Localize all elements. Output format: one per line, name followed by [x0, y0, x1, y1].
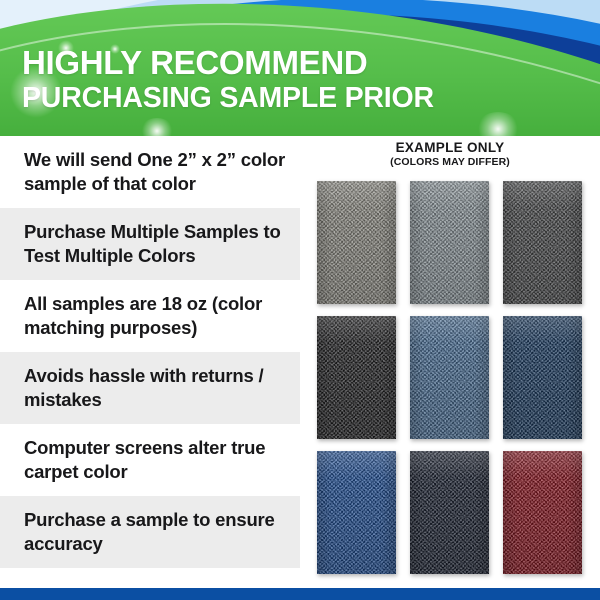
carpet-swatch-navy-blue — [503, 316, 582, 439]
benefit-text: Purchase a sample to ensure accuracy — [24, 508, 316, 556]
carpet-swatch-burgundy-red — [503, 451, 582, 574]
benefit-text: We will send One 2” x 2” color sample of… — [24, 148, 316, 196]
swatch-shading — [503, 181, 582, 304]
carpet-swatch-light-blue-gray — [410, 181, 489, 304]
carpet-swatch-grid — [317, 181, 600, 586]
swatch-shading — [410, 181, 489, 304]
banner-title-line-1: HIGHLY RECOMMEND — [22, 46, 434, 79]
carpet-swatch-royal-blue — [317, 451, 396, 574]
carpet-swatch-black — [317, 316, 396, 439]
swatch-shading — [410, 451, 489, 574]
swatch-shading — [317, 316, 396, 439]
header-banner: HIGHLY RECOMMEND PURCHASING SAMPLE PRIOR — [0, 0, 600, 136]
carpet-swatch-medium-blue — [410, 316, 489, 439]
swatch-shading — [503, 451, 582, 574]
benefit-text: All samples are 18 oz (color matching pu… — [24, 292, 316, 340]
bottom-accent-bar — [0, 588, 600, 600]
swatch-row — [317, 316, 600, 439]
benefit-text: Purchase Multiple Samples to Test Multip… — [24, 220, 316, 268]
example-only-caption: EXAMPLE ONLY (COLORS MAY DIFFER) — [300, 140, 600, 168]
banner-title-line-2: PURCHASING SAMPLE PRIOR — [22, 84, 434, 113]
swatch-shading — [317, 181, 396, 304]
body-area: We will send One 2” x 2” color sample of… — [0, 136, 600, 588]
promo-poster: HIGHLY RECOMMEND PURCHASING SAMPLE PRIOR… — [0, 0, 600, 600]
swatch-row — [317, 451, 600, 574]
benefit-text: Avoids hassle with returns / mistakes — [24, 364, 316, 412]
swatch-shading — [317, 451, 396, 574]
swatch-shading — [410, 316, 489, 439]
swatch-panel: EXAMPLE ONLY (COLORS MAY DIFFER) — [300, 136, 600, 588]
caption-main-text: EXAMPLE ONLY — [300, 140, 600, 155]
carpet-swatch-dark-navy — [410, 451, 489, 574]
caption-sub-text: (COLORS MAY DIFFER) — [300, 156, 600, 168]
carpet-swatch-medium-gray — [317, 181, 396, 304]
benefit-text: Computer screens alter true carpet color — [24, 436, 316, 484]
swatch-shading — [503, 316, 582, 439]
banner-title: HIGHLY RECOMMEND PURCHASING SAMPLE PRIOR — [22, 46, 434, 113]
swatch-row — [317, 181, 600, 304]
carpet-swatch-dark-charcoal-gray — [503, 181, 582, 304]
